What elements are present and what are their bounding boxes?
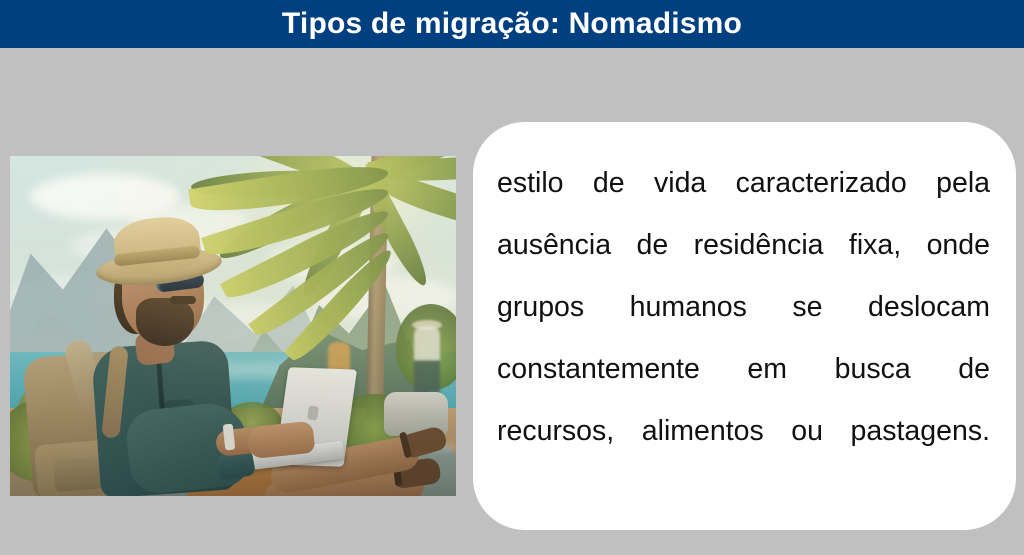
nomad-photo bbox=[10, 156, 456, 496]
slide-canvas: Tipos de migração: Nomadismo bbox=[0, 0, 1024, 555]
laptop-logo bbox=[307, 405, 319, 420]
beard bbox=[136, 298, 194, 346]
distant-person bbox=[414, 326, 440, 398]
page-title: Tipos de migração: Nomadismo bbox=[282, 9, 742, 39]
mustache bbox=[170, 296, 196, 304]
definition-card: estilo de vida caracterizado pela ausênc… bbox=[473, 122, 1016, 530]
definition-text: estilo de vida caracterizado pela ausênc… bbox=[497, 152, 990, 524]
hand-on-keyboard bbox=[247, 421, 316, 460]
title-bar: Tipos de migração: Nomadismo bbox=[0, 0, 1024, 48]
